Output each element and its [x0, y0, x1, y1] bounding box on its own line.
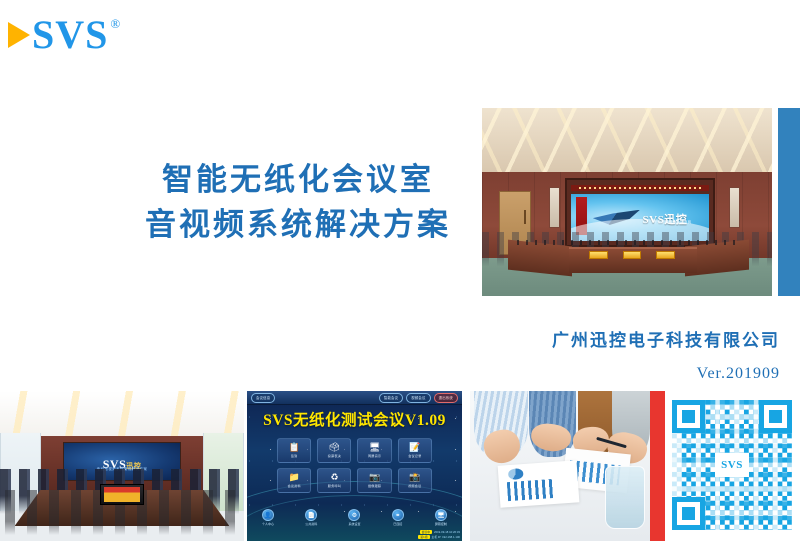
status-badge-meeting: 会议中 [420, 530, 432, 534]
bottom-red-accent-bar [650, 391, 665, 541]
screen-share-icon: 🖥 [369, 443, 380, 452]
tile-label: 会议记录 [408, 453, 421, 458]
svs-logo: SVS ® [8, 12, 120, 58]
service-icon: ♻ [330, 473, 338, 482]
qr-finder-top-right [759, 400, 792, 433]
tile-service-call[interactable]: ♻ 服务呼叫 [317, 468, 351, 493]
desk-document-2 [623, 251, 642, 259]
bottom-qr-code-panel: SVS [665, 391, 800, 541]
desk-terminal [100, 484, 144, 505]
tile-meeting-notes[interactable]: 📝 会议记录 [398, 438, 432, 463]
person-icon: 👤 [262, 509, 274, 521]
tile-label: 摄像跟踪 [368, 483, 381, 488]
wall-panel-right [729, 187, 741, 228]
bottom-photo-conference-room: SVS迅控 专业音视频系统集成解决方案 [0, 391, 244, 541]
status-chip-row-2: 第1组 主机 IP: 192.168.1.100 [418, 535, 460, 539]
tile-screen-share[interactable]: 🖥 同屏演示 [357, 438, 391, 463]
bottom-navigation: 👤 个人中心 📄 公共资料 ⚙ 系统设置 ⚭ 已连接 🖥 屏幕控制 [262, 509, 447, 526]
nav-label: 系统设置 [348, 522, 360, 526]
topbar-info-button[interactable]: 会议信息 [251, 393, 275, 403]
network-icon: ⚭ [392, 509, 404, 521]
registered-trademark-icon: ® [110, 16, 120, 32]
settings-icon: ⚙ [348, 509, 360, 521]
nav-label: 屏幕控制 [435, 522, 447, 526]
capture-icon: 📸 [409, 473, 420, 482]
topbar-button-exit[interactable]: 退出系统 [434, 393, 458, 403]
qr-finder-bottom-left [672, 497, 705, 530]
triangle-icon [8, 22, 30, 48]
clipboard-icon: 📋 [289, 443, 300, 452]
company-name: 广州迅控电子科技有限公司 [430, 328, 780, 355]
tile-video-conference[interactable]: 📸 视频会议 [398, 468, 432, 493]
pie-chart-graphic [507, 468, 524, 480]
logo-wordmark: SVS [32, 15, 108, 55]
topbar-button-group: 智能会议 视频会议 退出系统 [379, 393, 458, 403]
tile-meeting-files[interactable]: 📁 会议资料 [277, 468, 311, 493]
monitor-icon: 🖥 [435, 509, 447, 521]
status-area: 会议中 2019-09-18 10:26:33 第1组 主机 IP: 192.1… [418, 530, 460, 539]
hero-conference-room-image: SVS迅控 专业音视频设备制造商 [482, 108, 772, 296]
nav-label: 公共资料 [305, 522, 317, 526]
tile-voting[interactable]: 🗳 投票表决 [317, 438, 351, 463]
document-icon: 📝 [409, 443, 420, 452]
bottom-screenshot-software-ui: 会议信息 智能会议 视频会议 退出系统 SVS无纸化测试会议V1.09 📋 签到… [247, 391, 462, 541]
tile-label: 同屏演示 [368, 453, 381, 458]
page-title: 智能无纸化会议室 音视频系统解决方案 [108, 158, 488, 248]
title-line-2: 音视频系统解决方案 [108, 203, 488, 248]
qr-logo-text: SVS [721, 459, 743, 471]
presentation-slide: SVS ® SVS迅控 专业音视频设备制造商 [0, 0, 800, 541]
welcome-banner [571, 185, 710, 191]
folder-icon: 📁 [289, 473, 300, 482]
wall-panel-left [549, 187, 561, 228]
microphones [517, 240, 737, 246]
tile-camera-tracking[interactable]: 📷 摄像跟踪 [357, 468, 391, 493]
tile-label: 服务呼叫 [328, 483, 341, 488]
function-tile-grid: 📋 签到 🗳 投票表决 🖥 同屏演示 📝 会议记录 📁 会议资料 ♻ 服务 [277, 438, 432, 493]
tile-label: 投票表决 [328, 453, 341, 458]
status-badge-group: 第1组 [418, 535, 429, 539]
screen-subtitle-text: 专业音视频设备制造商 [653, 220, 691, 225]
right-accent-bar [778, 108, 800, 296]
tile-label: 会议资料 [288, 483, 301, 488]
qr-finder-top-left [672, 400, 705, 433]
vote-icon: 🗳 [329, 443, 340, 452]
nav-label: 已连接 [393, 522, 402, 526]
qr-code[interactable]: SVS [672, 400, 792, 530]
tile-label: 视频会议 [408, 483, 421, 488]
topbar-button-smart-meeting[interactable]: 智能会议 [379, 393, 403, 403]
nav-screen-control[interactable]: 🖥 屏幕控制 [435, 509, 447, 526]
app-title: SVS无纸化测试会议V1.09 [247, 408, 462, 430]
nav-system-settings[interactable]: ⚙ 系统设置 [348, 509, 360, 526]
status-chip-row: 会议中 2019-09-18 10:26:33 [420, 530, 460, 534]
file-icon: 📄 [305, 509, 317, 521]
nav-public-files[interactable]: 📄 公共资料 [305, 509, 317, 526]
status-text-time: 2019-09-18 10:26:33 [434, 530, 460, 534]
tile-sign-in[interactable]: 📋 签到 [277, 438, 311, 463]
nav-label: 个人中心 [262, 522, 274, 526]
status-text-ip: 主机 IP: 192.168.1.100 [432, 535, 460, 539]
company-block: 广州迅控电子科技有限公司 Ver.201909 [430, 328, 780, 383]
bar-chart-graphic [507, 479, 556, 501]
nav-connection-status[interactable]: ⚭ 已连接 [392, 509, 404, 526]
water-glass [605, 466, 645, 529]
chart-document-1 [497, 460, 579, 507]
topbar-button-video-meeting[interactable]: 视频会议 [406, 393, 430, 403]
camera-icon: 📷 [369, 473, 380, 482]
desk-document-1 [589, 251, 608, 259]
app-topbar: 会议信息 智能会议 视频会议 退出系统 [247, 391, 462, 405]
nav-personal-center[interactable]: 👤 个人中心 [262, 509, 274, 526]
bottom-photo-business-meeting [470, 391, 650, 541]
qr-center-logo: SVS [715, 453, 749, 477]
title-line-1: 智能无纸化会议室 [108, 158, 488, 203]
version-label: Ver.201909 [430, 365, 780, 383]
tile-label: 签到 [291, 453, 298, 458]
ceiling [482, 108, 772, 176]
desk-document-3 [656, 251, 675, 259]
